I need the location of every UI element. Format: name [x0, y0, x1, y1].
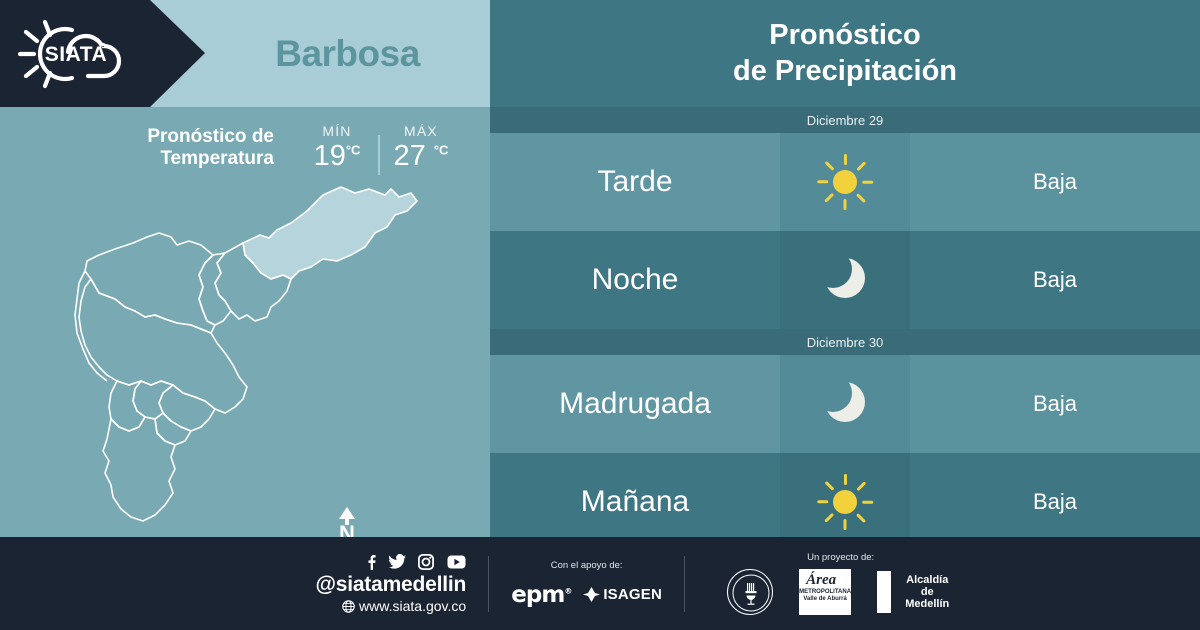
isagen-mark-icon: [583, 587, 600, 602]
isagen-logo: ISAGEN: [583, 586, 662, 603]
epm-logo: epm®: [511, 582, 571, 608]
compass-arrow-icon: [339, 507, 355, 519]
moon-cutout: [814, 374, 852, 412]
unal-seal-icon: [727, 569, 773, 615]
max-label: MÁX: [382, 123, 460, 139]
siata-logo-wedge: SIATA: [0, 0, 205, 107]
alcaldia-label: Alcaldía de Medellín: [898, 574, 956, 610]
temperature-title: Pronóstico de Temperatura: [147, 126, 274, 171]
temperature-title-line1: Pronóstico de: [147, 126, 274, 147]
social-icons: [0, 553, 466, 571]
map-region-bello: [85, 233, 215, 333]
weather-icon-cell: [780, 355, 910, 453]
probability-label: Baja: [910, 355, 1200, 453]
precipitation-title-line1: Pronóstico: [769, 18, 920, 53]
facebook-icon[interactable]: [367, 554, 376, 570]
youtube-icon[interactable]: [447, 555, 466, 569]
sun-disc: [833, 170, 857, 194]
sun-icon: [817, 474, 873, 530]
min-value: 19: [314, 140, 346, 172]
sun-disc: [833, 490, 857, 514]
temperature-panel: SIATA Barbosa Pronóstico de Temperatura …: [0, 0, 490, 537]
min-value-wrap: 19°C: [298, 140, 376, 173]
weather-icon-cell: [780, 231, 910, 329]
precipitation-panel: Pronóstico de Precipitación Diciembre 29…: [490, 0, 1200, 537]
weather-forecast-card: SIATA Barbosa Pronóstico de Temperatura …: [0, 0, 1200, 630]
social-handle[interactable]: @siatamedellin: [0, 573, 466, 597]
project-caption: Un proyecto de:: [725, 552, 956, 563]
city-banner: SIATA Barbosa: [0, 0, 490, 107]
project-block: Un proyecto de: Área METROPOLITANA V: [685, 552, 956, 615]
map-svg: [55, 175, 455, 535]
temperature-divider: [378, 135, 380, 175]
map-region-sabaneta: [155, 413, 191, 445]
map-region-envigado: [159, 385, 215, 431]
footer: @siatamedellin www.siata.gov.co Con el a…: [0, 537, 1200, 630]
period-label: Tarde: [490, 133, 780, 231]
temperature-summary: Pronóstico de Temperatura MÍN 19°C MÁX 2…: [0, 113, 460, 183]
moon-icon: [821, 256, 869, 304]
project-logos: Área METROPOLITANA Valle de Aburrá Alcal…: [685, 569, 956, 615]
temperature-title-line2: Temperatura: [160, 148, 274, 169]
social-block: @siatamedellin www.siata.gov.co: [0, 553, 488, 615]
support-logos: epm® ISAGEN: [489, 582, 684, 608]
forecast-row: Noche Baja: [490, 231, 1200, 329]
instagram-icon[interactable]: [418, 554, 434, 570]
date-band-day1: Diciembre 29: [490, 107, 1200, 133]
moon-cutout: [814, 250, 852, 288]
amva-line1: METROPOLITANA: [799, 589, 851, 595]
precipitation-title: Pronóstico de Precipitación: [490, 0, 1200, 107]
probability-label: Baja: [910, 231, 1200, 329]
svg-text:SIATA: SIATA: [45, 43, 107, 66]
map-region-caldas: [103, 417, 175, 521]
min-label: MÍN: [298, 123, 376, 139]
max-temperature: MÁX 27 °C: [382, 123, 460, 173]
min-temperature: MÍN 19°C: [298, 123, 376, 173]
max-value-wrap: 27 °C: [382, 140, 460, 173]
alcaldia-emblem-icon: [877, 571, 891, 613]
min-unit: °C: [346, 142, 361, 157]
globe-icon: [342, 600, 355, 613]
support-block: Con el apoyo de: epm® ISAGEN: [489, 560, 684, 608]
unal-seal-svg: [728, 570, 774, 616]
amva-line2: Valle de Aburrá: [803, 596, 846, 602]
alcaldia-logo: Alcaldía de Medellín: [877, 571, 956, 613]
precipitation-title-line2: de Precipitación: [733, 54, 957, 89]
period-label: Madrugada: [490, 355, 780, 453]
max-unit: °C: [434, 142, 449, 157]
max-value: 27: [394, 140, 426, 172]
website-text: www.siata.gov.co: [359, 598, 466, 614]
forecast-row: Madrugada Baja: [490, 355, 1200, 453]
siata-logo-icon: SIATA: [14, 14, 142, 94]
sun-icon: [817, 154, 873, 210]
weather-icon-cell: [780, 133, 910, 231]
support-caption: Con el apoyo de:: [489, 560, 684, 571]
probability-label: Baja: [910, 133, 1200, 231]
date-band-day2: Diciembre 30: [490, 329, 1200, 355]
valle-de-aburra-map: N: [55, 175, 455, 535]
period-label: Noche: [490, 231, 780, 329]
moon-icon: [821, 380, 869, 428]
map-region-barbosa: [243, 187, 417, 279]
city-title: Barbosa: [205, 0, 490, 107]
area-metropolitana-logo: Área METROPOLITANA Valle de Aburrá: [799, 569, 851, 615]
website-link[interactable]: www.siata.gov.co: [0, 598, 466, 614]
forecast-row: Tarde Baja: [490, 133, 1200, 231]
twitter-icon[interactable]: [389, 554, 406, 570]
